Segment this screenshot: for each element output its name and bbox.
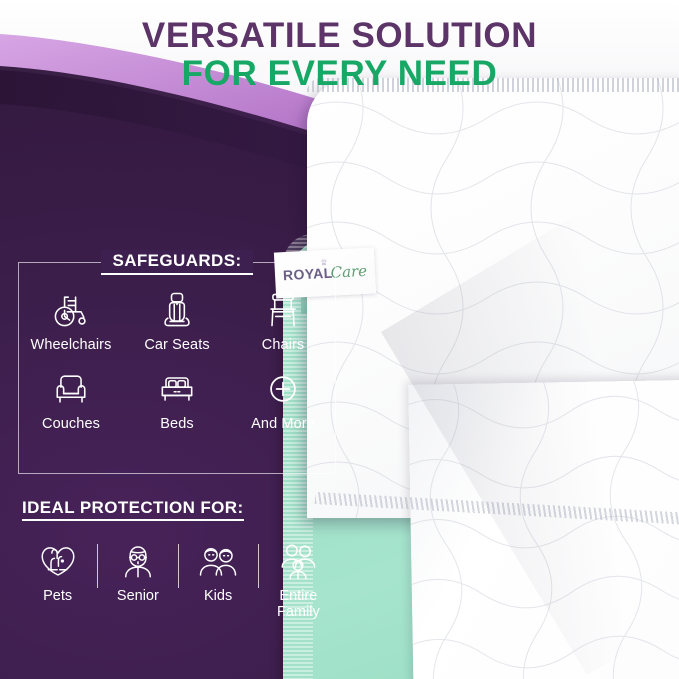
safeguard-item-beds: Beds <box>124 367 230 432</box>
couch-icon <box>49 367 93 411</box>
wheelchair-icon <box>49 288 93 332</box>
plus-circle-icon <box>261 367 305 411</box>
product-white-pad-underlayer <box>408 379 679 679</box>
safeguards-box: SAFEGUARDS: Wheelchairs <box>18 262 336 474</box>
safeguard-label: Chairs <box>262 337 305 353</box>
safeguard-label: Car Seats <box>144 337 209 353</box>
pets-icon <box>37 540 79 582</box>
safeguard-item-car-seats: Car Seats <box>124 288 230 353</box>
safeguard-label: Wheelchairs <box>31 337 112 353</box>
family-icon <box>277 540 319 582</box>
bed-icon <box>155 367 199 411</box>
safeguards-title-wrap: SAFEGUARDS: <box>18 250 336 275</box>
product-marketing-image: VERSATILE SOLUTION FOR EVERY NEED <box>0 0 679 679</box>
safeguard-item-couches: Couches <box>18 367 124 432</box>
headline-line-1: VERSATILE SOLUTION <box>0 17 679 54</box>
protection-label: Pets <box>43 588 72 604</box>
kids-icon <box>197 540 239 582</box>
ideal-protection-title-wrap: IDEAL PROTECTION FOR: <box>22 498 244 518</box>
safeguard-item-and-more: And More <box>230 367 336 432</box>
chair-icon <box>261 288 305 332</box>
car-seat-icon <box>155 288 199 332</box>
protection-label: Entire Family <box>259 588 338 620</box>
protection-label: Kids <box>204 588 232 604</box>
quilting-pattern-secondary <box>408 379 679 679</box>
safeguard-label: And More <box>251 416 315 432</box>
protection-item-kids: Kids <box>179 540 258 604</box>
safeguard-item-wheelchairs: Wheelchairs <box>18 288 124 353</box>
ideal-protection-title: IDEAL PROTECTION FOR: <box>22 498 244 521</box>
protection-item-entire-family: Entire Family <box>259 540 338 620</box>
protection-item-pets: Pets <box>18 540 97 604</box>
protection-label: Senior <box>117 588 159 604</box>
safeguards-grid: Wheelchairs Car Seats <box>18 288 336 432</box>
headline-block: VERSATILE SOLUTION FOR EVERY NEED <box>0 17 679 93</box>
headline-line-2: FOR EVERY NEED <box>0 54 679 93</box>
safeguard-item-chairs: Chairs <box>230 288 336 353</box>
ideal-protection-row: Pets Senior <box>18 540 338 620</box>
safeguard-label: Beds <box>160 416 193 432</box>
safeguards-title: SAFEGUARDS: <box>101 250 252 275</box>
senior-icon <box>117 540 159 582</box>
safeguard-label: Couches <box>42 416 100 432</box>
protection-item-senior: Senior <box>98 540 177 604</box>
